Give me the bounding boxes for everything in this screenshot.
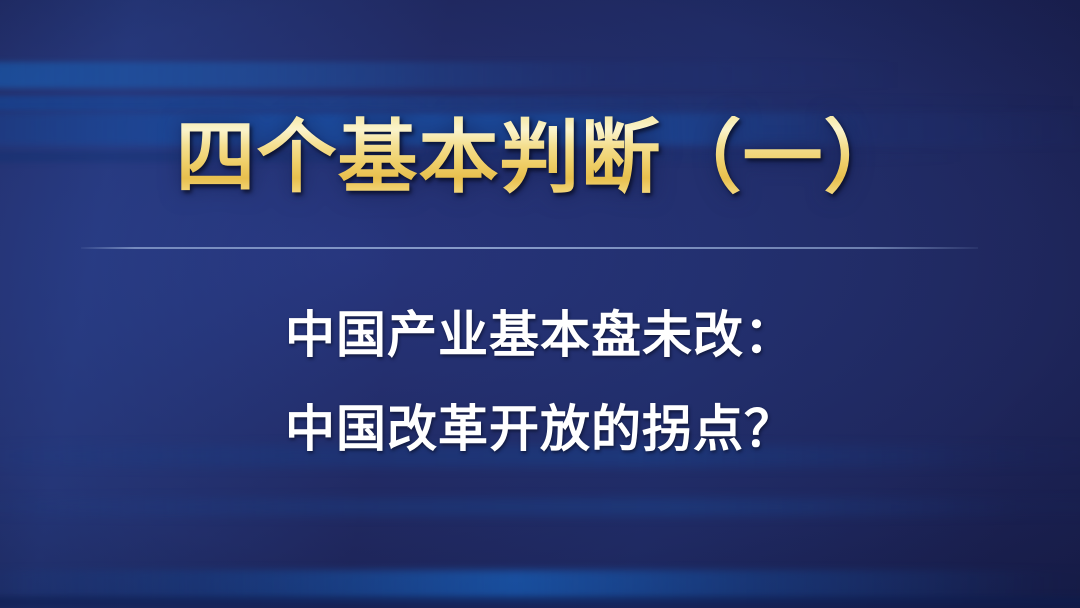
subtitle-line-1: 中国产业基本盘未改： (0, 288, 1080, 382)
presentation-slide: 四个基本判断（一） 中国产业基本盘未改： 中国改革开放的拐点？ (0, 0, 1080, 608)
subtitle-line-2: 中国改革开放的拐点？ (0, 382, 1080, 476)
page-title: 四个基本判断（一） (176, 116, 905, 200)
title-block: 四个基本判断（一） (0, 116, 1080, 200)
slide-content: 四个基本判断（一） 中国产业基本盘未改： 中国改革开放的拐点？ (0, 0, 1080, 608)
title-divider (81, 247, 978, 249)
subtitle-block: 中国产业基本盘未改： 中国改革开放的拐点？ (0, 288, 1080, 476)
